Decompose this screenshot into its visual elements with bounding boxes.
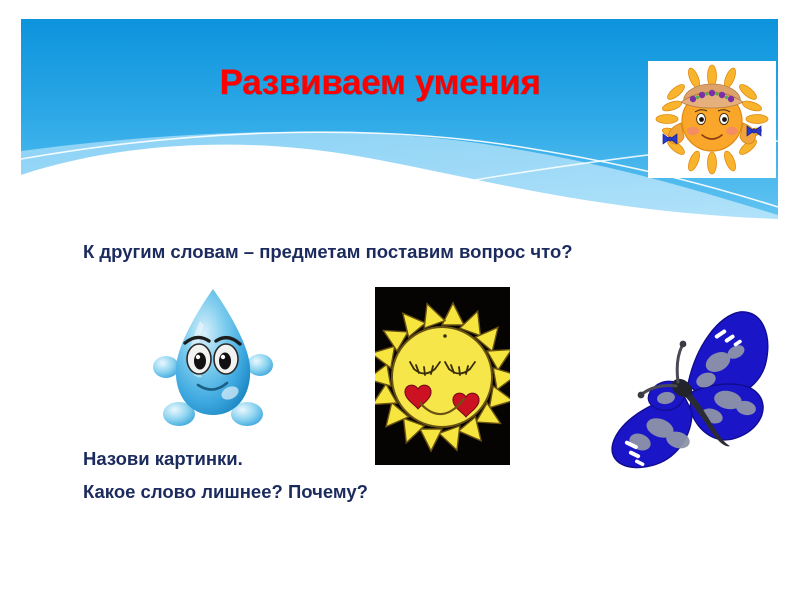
- sunflower-image: [375, 287, 510, 465]
- sun-girl-image: [648, 61, 776, 178]
- butterfly-image: [600, 300, 778, 476]
- cheek-left: [687, 127, 699, 135]
- name-pictures-text: Назови картинки.: [83, 447, 243, 471]
- cheek-right: [726, 127, 738, 135]
- droplet-left-arm: [153, 356, 179, 378]
- slide-canvas: Развиваем умения: [0, 0, 800, 600]
- sun-dot: [443, 334, 447, 338]
- sun-disc: [392, 327, 492, 427]
- droplet-right-arm: [247, 354, 273, 376]
- waterdrop-image: [152, 281, 274, 433]
- page-title: Развиваем умения: [120, 62, 640, 104]
- odd-word-text: Какое слово лишнее? Почему?: [83, 480, 368, 504]
- question-text: К другим словам – предметам поставим воп…: [83, 240, 573, 264]
